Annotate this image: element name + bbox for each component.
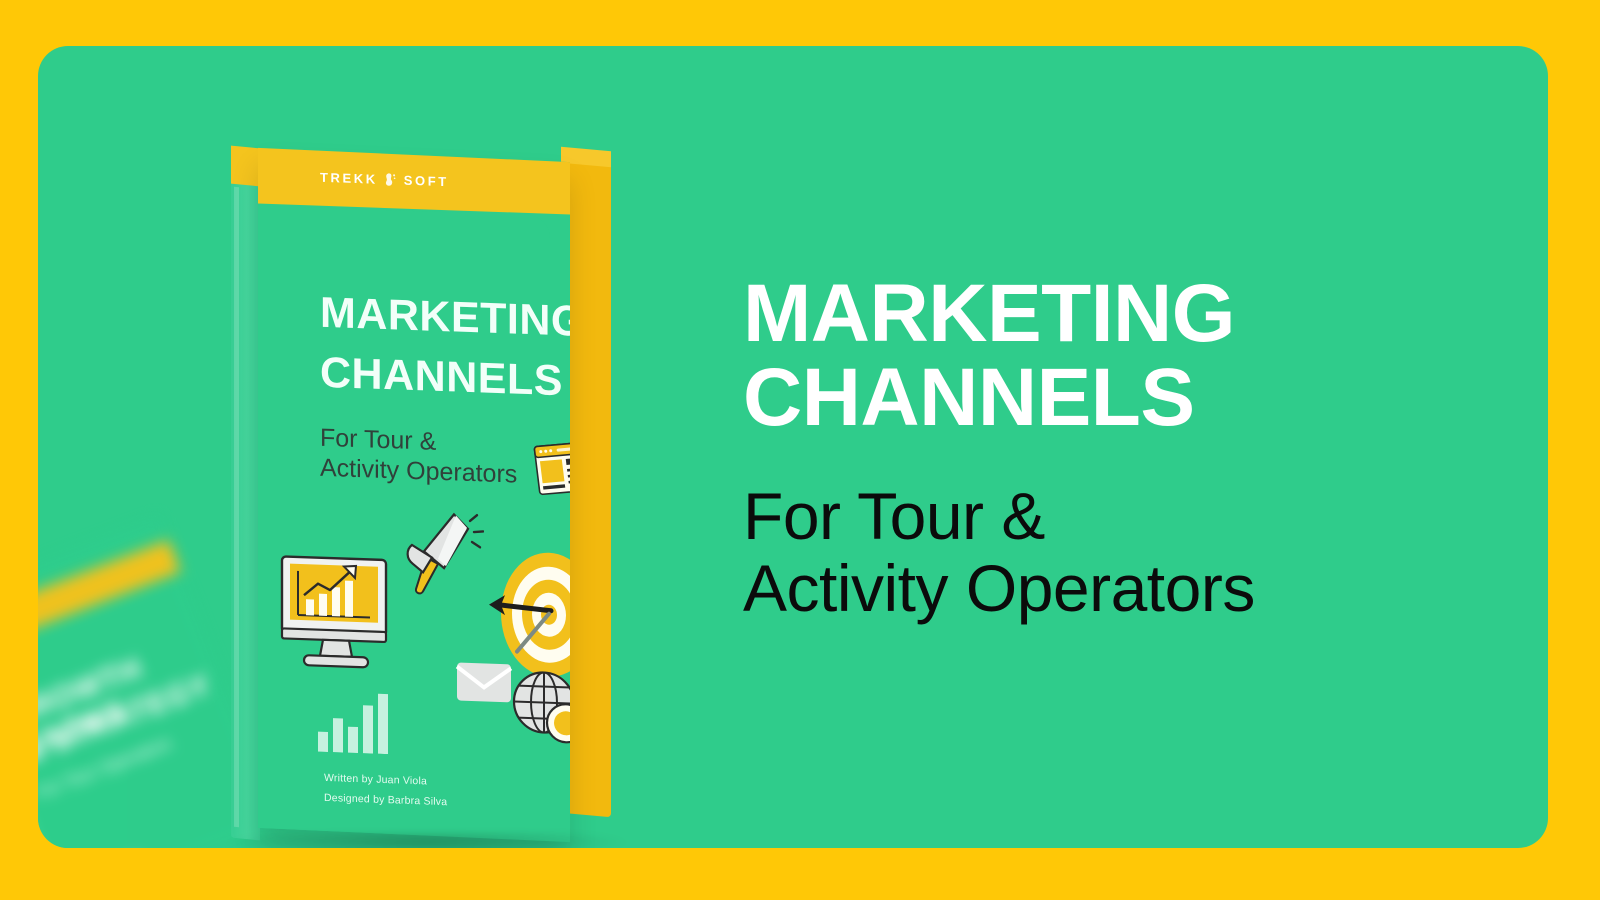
envelope-icon <box>453 654 515 708</box>
green-content-panel: GROWTH HACKS & STRATEGY For Tour Operato… <box>38 46 1548 848</box>
desktop-monitor-chart-icon <box>276 550 396 679</box>
megaphone-icon <box>398 504 484 599</box>
book-drop-shadow <box>225 832 628 848</box>
browser-window-icon <box>533 437 570 501</box>
ebook-3d-mockup: TREKK SOFT MARKETING CHANNELS <box>231 149 619 848</box>
background-book-artwork <box>70 815 176 848</box>
subheadline-line2: Activity Operators <box>743 553 1463 625</box>
boot-footprint-icon <box>385 172 397 187</box>
background-book-band <box>38 540 181 654</box>
brand-name-left: TREKK <box>320 170 378 187</box>
bar-chart-icon <box>316 682 396 755</box>
subheadline-line1: For Tour & <box>743 481 1463 553</box>
globe-magnifier-icon <box>508 663 570 754</box>
book-front-cover: TREKK SOFT MARKETING CHANNELS <box>258 148 570 842</box>
book-spine-header-band <box>231 146 260 187</box>
headline-line1: MARKETING <box>743 274 1463 354</box>
poster-canvas: GROWTH HACKS & STRATEGY For Tour Operato… <box>0 0 1600 900</box>
book-cover-title-line1: MARKETING <box>320 292 570 344</box>
book-cover-subtitle-line1: For Tour & <box>320 424 436 458</box>
headline-line2: CHANNELS <box>743 358 1463 438</box>
brand-name-right: SOFT <box>404 173 449 190</box>
book-cover-title-line2: CHANNELS <box>320 352 563 403</box>
headline-block: MARKETING CHANNELS For Tour & Activity O… <box>743 274 1463 625</box>
subheadline-block: For Tour & Activity Operators <box>743 481 1463 625</box>
book-spine-highlight <box>234 187 239 827</box>
